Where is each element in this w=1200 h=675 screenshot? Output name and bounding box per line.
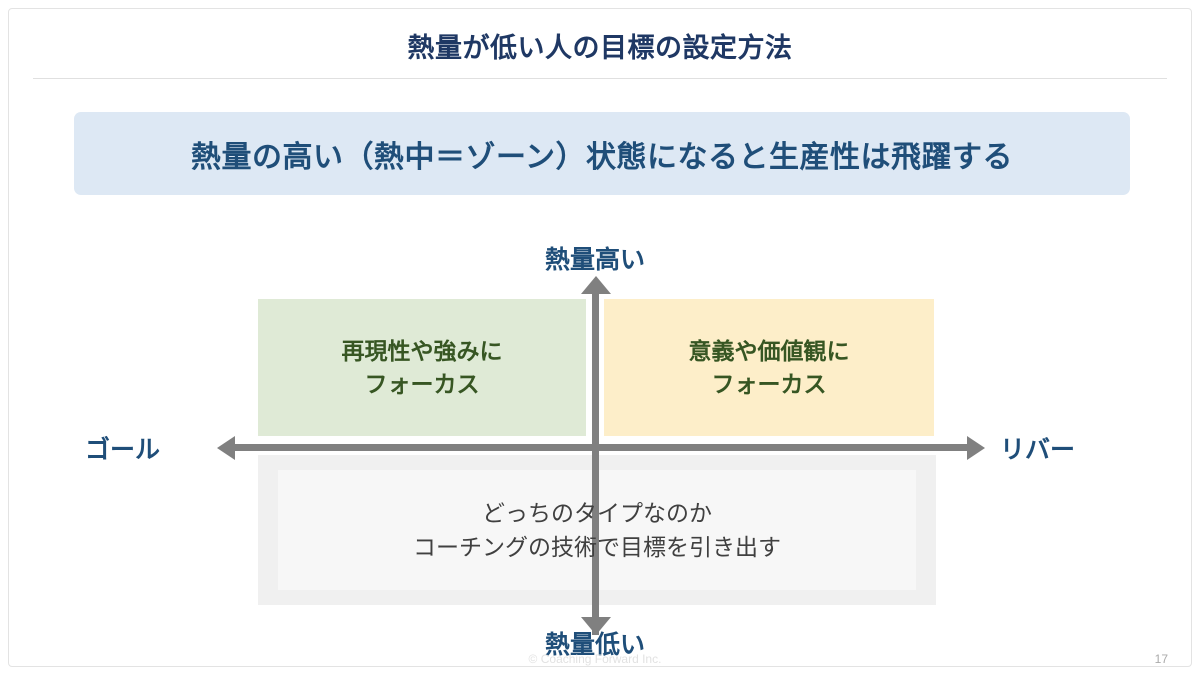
axis-label-river: リバー <box>1000 430 1075 466</box>
bottom-panel-line1: どっちのタイプなのか <box>482 496 712 531</box>
quadrant-top-right: 意義や価値観に フォーカス <box>604 299 934 436</box>
quadrant-top-right-line2: フォーカス <box>712 368 827 401</box>
page-number: 17 <box>1155 652 1168 666</box>
quadrant-matrix-diagram: 熱量高い 熱量低い ゴール リバー 再現性や強みに フォーカス 意義や価値観に … <box>0 0 1200 675</box>
quadrant-top-left-line1: 再現性や強みに <box>342 335 503 368</box>
axis-label-goal: ゴール <box>85 430 160 466</box>
arrow-up-icon <box>581 276 611 294</box>
vertical-axis-line <box>592 290 599 635</box>
arrow-down-icon <box>581 617 611 635</box>
slide-canvas: 熱量が低い人の目標の設定方法 熱量の高い（熱中＝ゾーン）状態になると生産性は飛躍… <box>0 0 1200 675</box>
horizontal-axis-line <box>232 444 970 451</box>
footer-copyright: © Coaching Forward Inc. <box>0 652 1190 666</box>
quadrant-top-right-line1: 意義や価値観に <box>689 335 850 368</box>
quadrant-top-left-line2: フォーカス <box>365 368 480 401</box>
bottom-panel-line2: コーチングの技術で目標を引き出す <box>413 530 781 565</box>
arrow-right-icon <box>967 436 985 460</box>
quadrant-top-left: 再現性や強みに フォーカス <box>258 299 586 436</box>
axis-label-high-energy: 熱量高い <box>0 240 1190 276</box>
arrow-left-icon <box>217 436 235 460</box>
